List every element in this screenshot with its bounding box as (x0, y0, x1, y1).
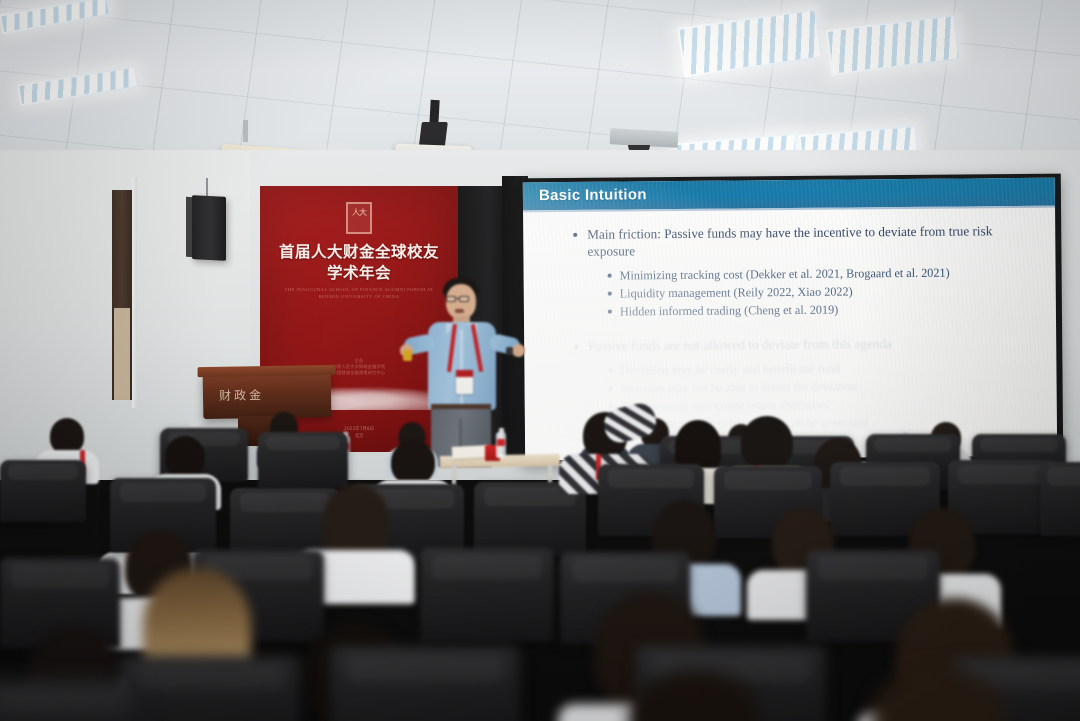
presenter-mouth (455, 309, 464, 313)
podium-top (198, 365, 336, 377)
presentation-clicker[interactable] (403, 350, 412, 361)
chair[interactable] (330, 646, 520, 721)
wall-corner (132, 178, 137, 408)
banner-title-line-1: 首届人大财金全球校友 (260, 242, 458, 263)
ceiling-pipe (243, 120, 248, 142)
presenter-shirt-placket (460, 330, 463, 406)
lecture-hall-photo: 人大 首届人大财金全球校友 学术年会 THE INAUGURAL SCHOOL … (0, 0, 1080, 721)
audience-head (871, 668, 1005, 721)
slide-bullet-level2: Liquidity management (Reily 2022, Xiao 2… (606, 282, 1038, 302)
glasses-icon (446, 296, 456, 302)
slide-faded-line: Passive funds are not allowed to deviate… (572, 334, 1038, 355)
slide-faded-line: Investors may not be able to detect the … (607, 377, 1039, 397)
door[interactable] (112, 190, 134, 400)
audience-member-foreground (590, 670, 800, 721)
audience-head (391, 440, 435, 484)
presenter-right-hand (512, 344, 525, 357)
slide-title: Basic Intuition (539, 186, 647, 204)
audience-member-foreground (828, 668, 1048, 721)
chair[interactable] (258, 432, 348, 488)
wall-speaker (192, 195, 226, 261)
presenter-badge (456, 370, 473, 394)
glasses-bridge (456, 298, 459, 299)
glasses-icon (459, 296, 469, 302)
audience-head (630, 670, 760, 721)
audience-head (50, 418, 84, 454)
slide-bullet-level2: Minimizing tracking cost (Dekker et al. … (606, 264, 1038, 284)
seal-icon: 人大 (346, 202, 372, 234)
slide-bullet-level1: Main friction: Passive funds may have th… (571, 222, 1037, 260)
chair[interactable] (0, 460, 86, 522)
chair[interactable] (120, 656, 300, 721)
slide-bullet-level2: Hidden informed trading (Cheng et al. 20… (606, 300, 1038, 320)
audience-head (741, 416, 793, 470)
slide-faded-line: Deviation may be costly and benefit the … (606, 359, 1038, 379)
audience-head (165, 436, 205, 478)
chair[interactable] (0, 680, 140, 721)
chair[interactable] (420, 548, 554, 642)
audience-head (323, 484, 389, 556)
chair[interactable] (1040, 462, 1080, 536)
audience (0, 400, 1080, 721)
slide-sub-bullets: Minimizing tracking cost (Dekker et al. … (572, 264, 1038, 320)
watch-icon (506, 347, 513, 355)
